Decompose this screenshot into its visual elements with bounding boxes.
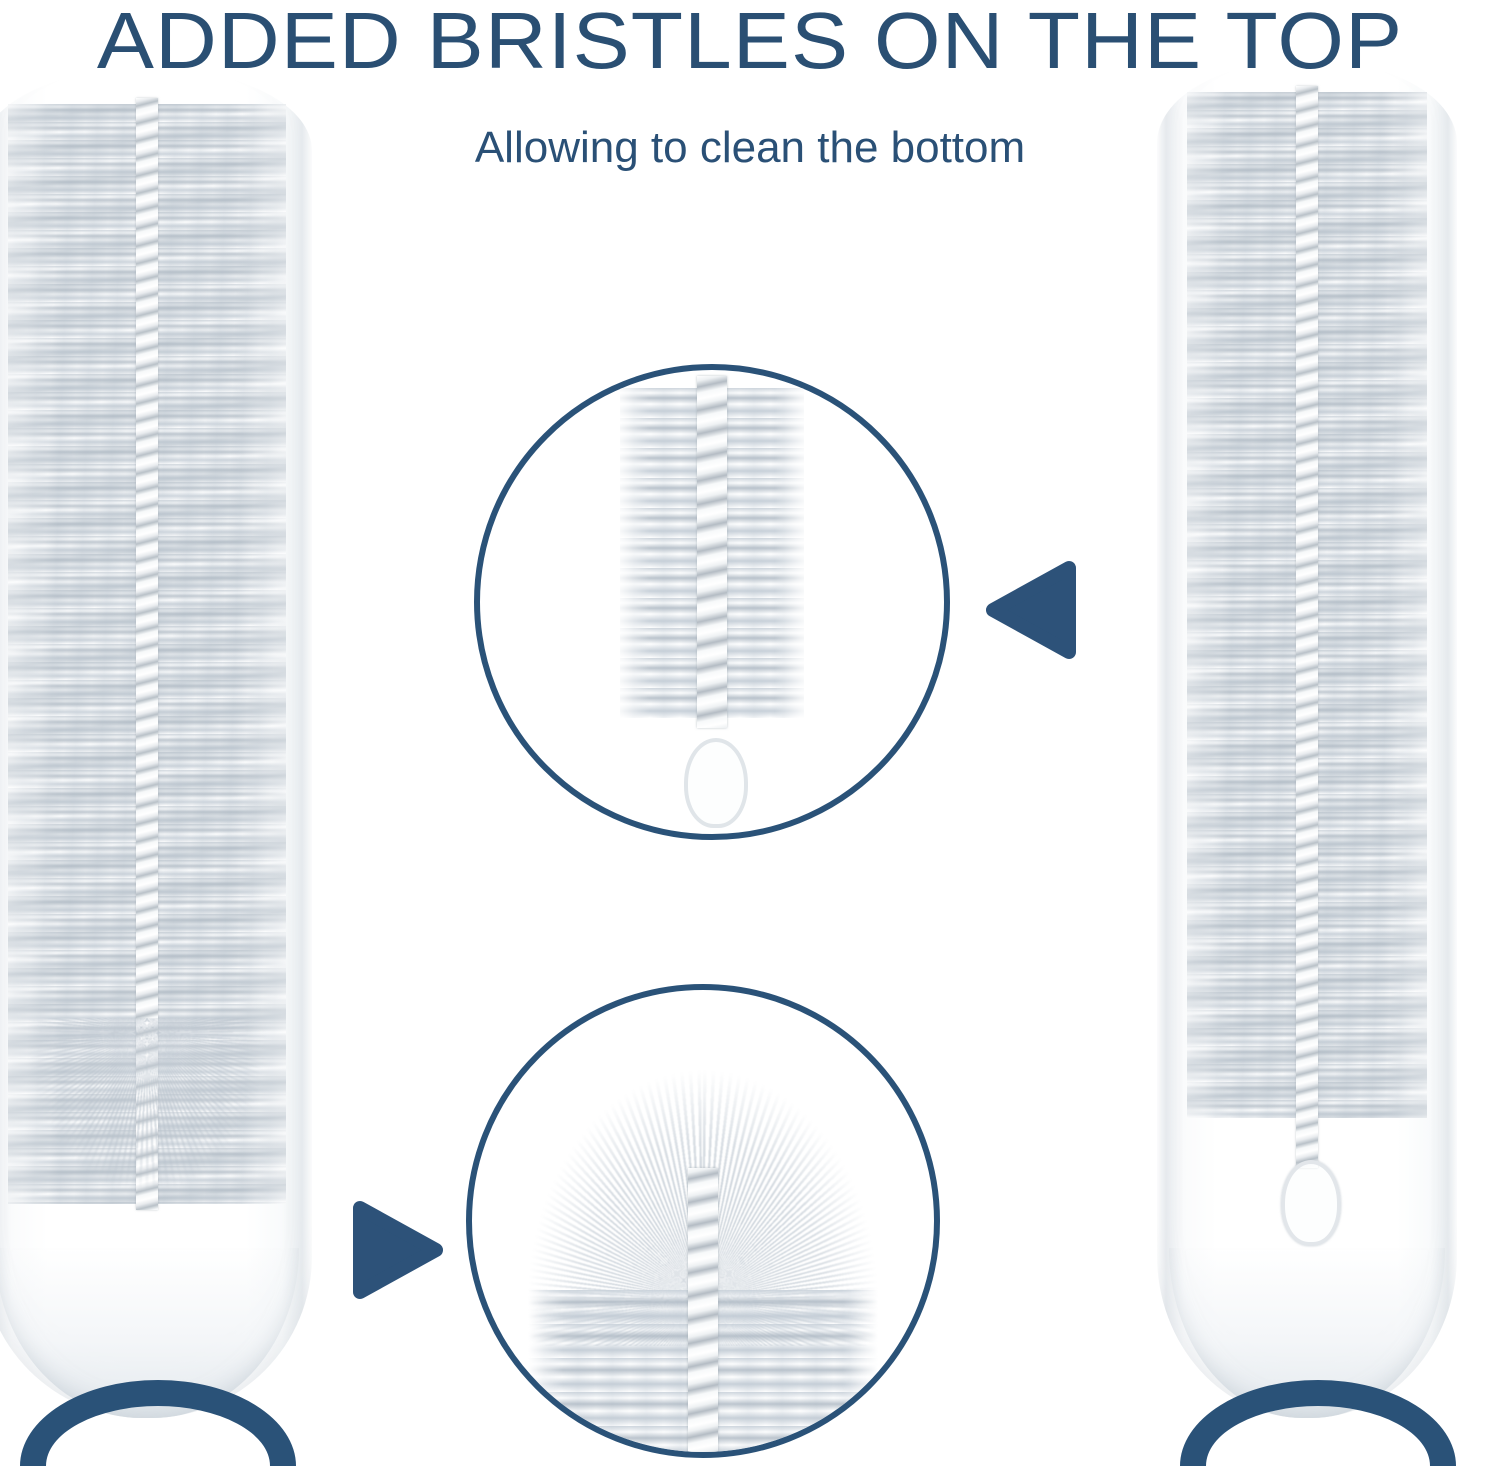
triangle-left-icon bbox=[985, 560, 1077, 660]
product-photo-right-brush bbox=[1157, 62, 1457, 1418]
page-subtitle: Allowing to clean the bottom bbox=[0, 122, 1500, 174]
twisted-wire-core bbox=[1296, 86, 1318, 1168]
page-title: ADDED BRISTLES ON THE TOP bbox=[0, 2, 1500, 80]
product-photo-left-brush bbox=[0, 70, 312, 1418]
crescent-shape bbox=[1180, 1380, 1456, 1466]
infographic-canvas: ADDED BRISTLES ON THE TOP Allowing to cl… bbox=[0, 0, 1500, 1469]
blue-crescent-accent-left bbox=[20, 1380, 296, 1466]
bottom-bristle-fan bbox=[22, 1018, 272, 1268]
callout-brush-end-bristles bbox=[466, 984, 940, 1458]
callout-brush-tip-wire-loop bbox=[474, 364, 950, 840]
callout-wire-loop-end bbox=[684, 738, 748, 828]
wire-loop-end bbox=[1281, 1160, 1341, 1246]
blue-crescent-accent-right bbox=[1180, 1380, 1456, 1466]
triangle-right-icon bbox=[352, 1200, 444, 1300]
crescent-shape bbox=[20, 1380, 296, 1466]
callout-twisted-wire-core bbox=[697, 376, 727, 728]
callout-twisted-wire-core bbox=[688, 1168, 718, 1452]
